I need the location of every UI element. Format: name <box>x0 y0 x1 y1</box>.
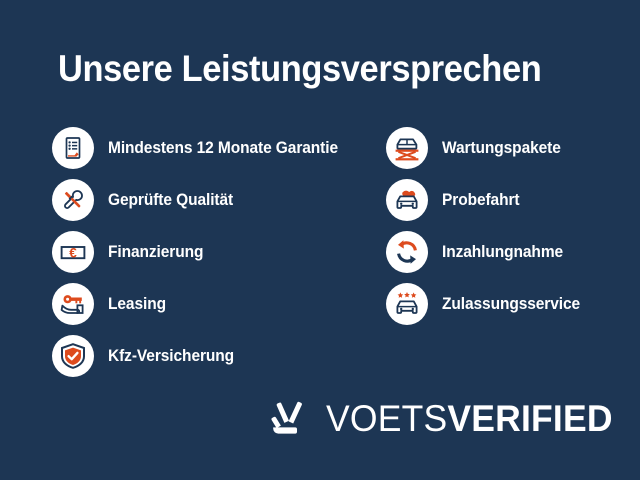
list-item-label: Inzahlungnahme <box>442 243 563 262</box>
list-item-label: Kfz-Versicherung <box>108 347 234 366</box>
logo-voets: VOETS <box>326 398 447 439</box>
list-item[interactable]: Leasing <box>52 278 353 330</box>
list-item-label: Finanzierung <box>108 243 203 262</box>
hand-key-icon <box>52 283 94 325</box>
list-item[interactable]: Mindestens 12 Monate Garantie <box>52 122 353 174</box>
exchange-arrows-icon <box>386 231 428 273</box>
car-lift-icon <box>386 127 428 169</box>
logo-verified: VERIFIED <box>447 398 612 439</box>
list-item-label: Mindestens 12 Monate Garantie <box>108 139 338 158</box>
list-item[interactable]: Wartungspakete <box>386 122 589 174</box>
list-item[interactable]: Inzahlungnahme <box>386 226 589 278</box>
list-item[interactable]: Probefahrt <box>386 174 589 226</box>
list-item-label: Geprüfte Qualität <box>108 191 233 210</box>
svg-text:€: € <box>69 245 77 260</box>
list-item-label: Probefahrt <box>442 191 519 210</box>
promise-banner: Unsere Leistungsversprechen <box>0 0 640 480</box>
page-title: Unsere Leistungsversprechen <box>58 48 541 90</box>
benefits-column-right: Wartungspakete Probefahrt <box>386 122 589 330</box>
car-stars-icon <box>386 283 428 325</box>
list-item-label: Zulassungsservice <box>442 295 580 314</box>
banknote-euro-icon: € <box>52 231 94 273</box>
list-item[interactable]: € Finanzierung <box>52 226 353 278</box>
car-speed-icon <box>386 179 428 221</box>
list-item[interactable]: Geprüfte Qualität <box>52 174 353 226</box>
voets-v-hand-icon <box>269 396 313 440</box>
shield-check-icon <box>52 335 94 377</box>
benefits-column-left: Mindestens 12 Monate Garantie <box>52 122 353 382</box>
voets-verified-logo[interactable]: VOETSVERIFIED <box>269 396 625 440</box>
wrench-screwdriver-icon <box>52 179 94 221</box>
list-item[interactable]: Zulassungsservice <box>386 278 589 330</box>
list-item-label: Wartungspakete <box>442 139 561 158</box>
logo-wordmark: VOETSVERIFIED <box>326 400 613 437</box>
list-item-label: Leasing <box>108 295 166 314</box>
certificate-document-icon <box>52 127 94 169</box>
list-item[interactable]: Kfz-Versicherung <box>52 330 353 382</box>
